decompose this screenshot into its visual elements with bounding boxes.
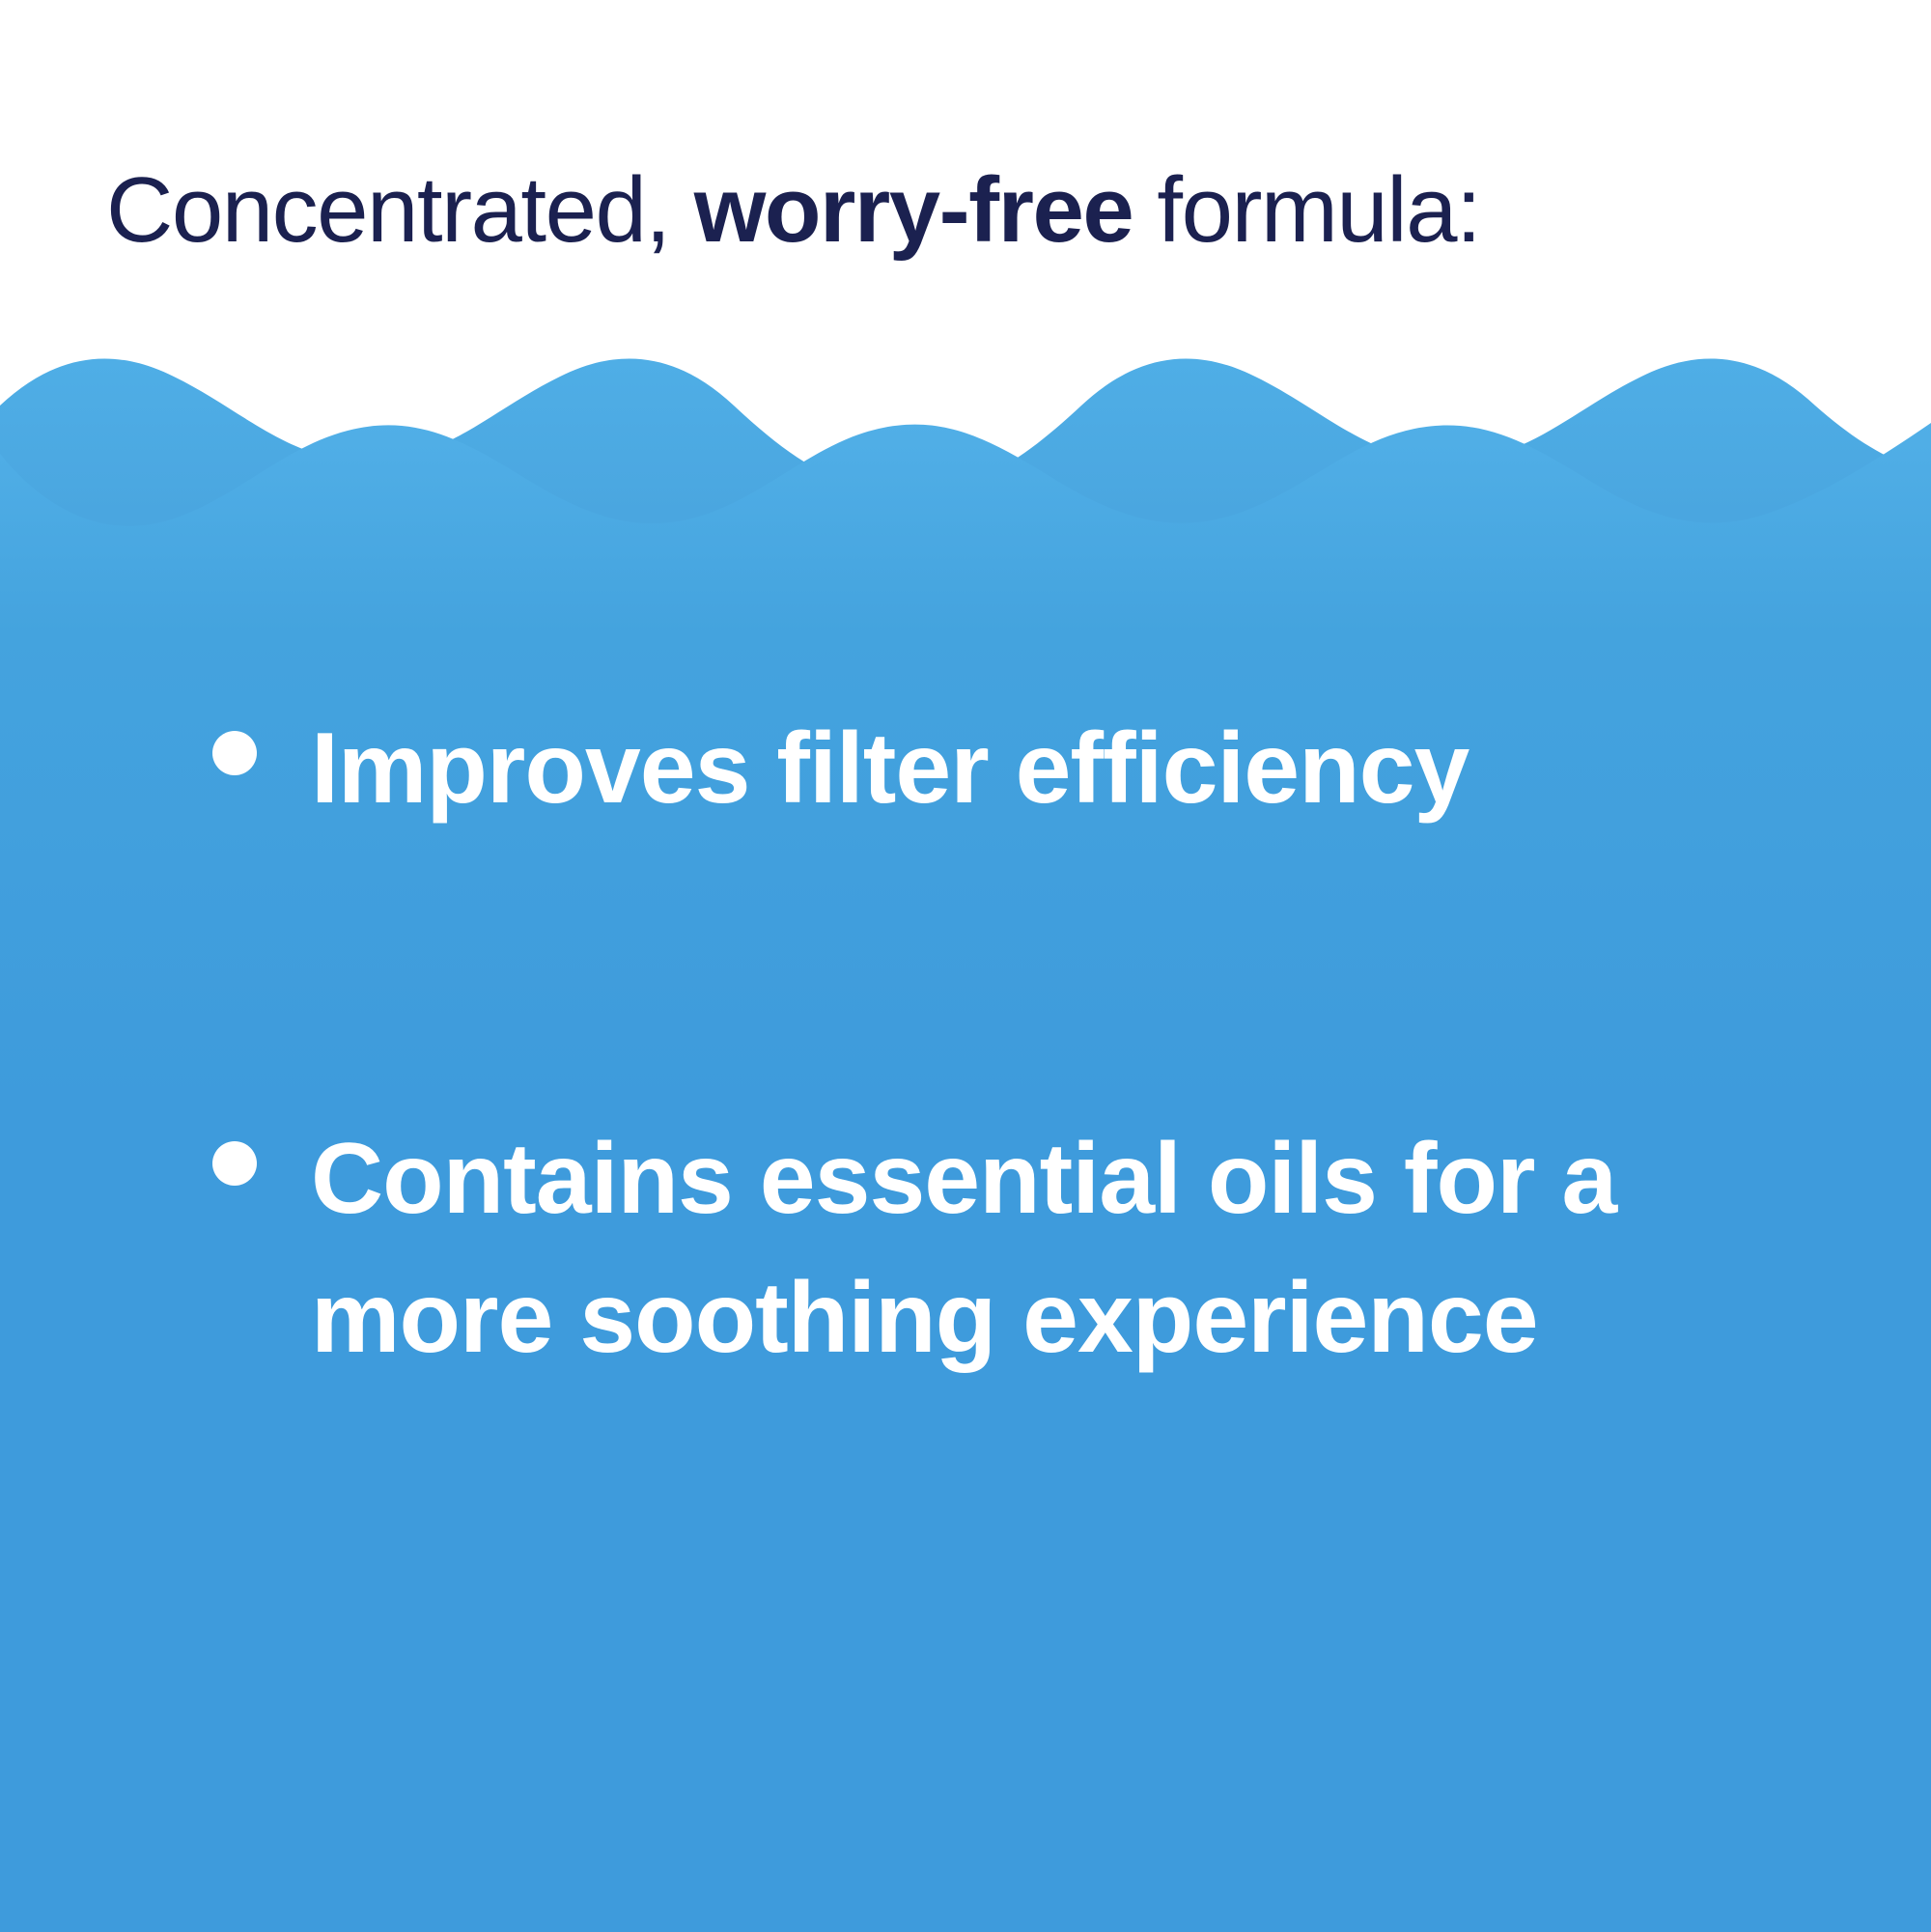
promo-graphic: Concentrated, worry-free formula: (0, 0, 1931, 1932)
headline-prefix: Concentrated, (106, 158, 694, 262)
headline-emphasis: worry-free (694, 158, 1133, 262)
headline-suffix: formula: (1133, 158, 1480, 262)
list-item: Improves filter efficiency (212, 700, 1719, 839)
benefits-list: Improves filter efficiency Contains esse… (0, 348, 1931, 1932)
bullet-dot-icon (212, 731, 257, 775)
bullet-dot-icon (212, 1141, 257, 1186)
list-item-label: Contains essential oils for a more sooth… (311, 1110, 1719, 1387)
list-item: Contains essential oils for a more sooth… (212, 1110, 1719, 1387)
page-title: Concentrated, worry-free formula: (106, 164, 1844, 257)
list-item-label: Improves filter efficiency (311, 700, 1719, 839)
